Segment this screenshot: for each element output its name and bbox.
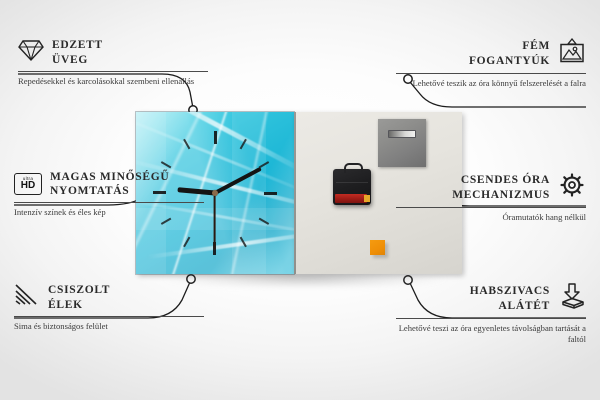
feature-title-line1: HABSZIVACS	[470, 285, 550, 297]
feature-title-line2: ALÁTÉT	[499, 300, 551, 312]
feature-title-line1: CSENDES ÓRA	[461, 174, 550, 186]
divider	[14, 316, 204, 317]
feature-metal-handles: FÉM FOGANTYÚK Lehetővé teszik az óra kön…	[396, 38, 586, 89]
feature-polished-edges: CSISZOLT ÉLEK Sima és biztonságos felüle…	[14, 283, 204, 332]
foam-pad	[370, 240, 385, 255]
divider	[396, 207, 586, 208]
foam-pad-arrow-icon	[558, 283, 586, 314]
feature-high-quality-print: ultra HD MAGAS MINŐSÉGŰ NYOMTATÁS Intenz…	[14, 170, 204, 218]
gear-icon	[558, 172, 586, 203]
feature-description: Óramutatók hang nélkül	[396, 212, 586, 223]
clock-center-cap	[212, 190, 218, 196]
ultra-hd-big-label: HD	[21, 181, 35, 191]
hanger-slot	[388, 130, 416, 138]
feature-title-line2: ÜVEG	[52, 54, 88, 66]
feature-description: Lehetővé teszik az óra könnyű felszerelé…	[396, 78, 586, 89]
feature-description: Repedésekkel és karcolásokkal szembeni e…	[18, 76, 208, 87]
feature-title-line2: NYOMTATÁS	[50, 185, 129, 197]
feature-tempered-glass: EDZETT ÜVEG Repedésekkel és karcolásokka…	[18, 38, 208, 87]
ultra-hd-icon: ultra HD	[14, 173, 42, 195]
infographic-canvas: EDZETT ÜVEG Repedésekkel és karcolásokka…	[0, 0, 600, 400]
feature-description: Lehetővé teszi az óra egyenletes távolsá…	[396, 323, 586, 345]
mechanism-seam	[336, 182, 368, 183]
divider	[14, 202, 204, 203]
mechanism-handle	[344, 163, 363, 173]
divider	[396, 73, 586, 74]
divider	[396, 318, 586, 319]
diamond-icon	[18, 38, 44, 67]
feature-foam-backing: HABSZIVACS ALÁTÉT Lehetővé teszi az óra …	[396, 283, 586, 345]
feature-title-line1: FÉM	[522, 40, 550, 52]
battery-terminal	[364, 195, 370, 202]
clock-tick	[214, 131, 216, 193]
feature-title-line1: EDZETT	[52, 39, 103, 51]
metal-hanger-plate	[378, 119, 426, 167]
polished-edge-icon	[14, 283, 40, 312]
divider	[18, 71, 208, 72]
clock-mechanism	[333, 169, 371, 205]
feature-description: Sima és biztonságos felület	[14, 321, 204, 332]
feature-title-line2: ÉLEK	[48, 299, 83, 311]
feature-silent-mechanism: CSENDES ÓRA MECHANIZMUS Óramutatók hang …	[396, 172, 586, 223]
feature-title-line2: MECHANIZMUS	[452, 189, 550, 201]
clock-second-hand	[214, 193, 216, 249]
battery	[335, 194, 367, 203]
picture-hanger-icon	[558, 38, 586, 69]
feature-description: Intenzív színek és éles kép	[14, 207, 204, 218]
feature-title-line1: MAGAS MINŐSÉGŰ	[50, 171, 169, 183]
clock-tick	[215, 192, 277, 194]
feature-title-line1: CSISZOLT	[48, 284, 110, 296]
feature-title-line2: FOGANTYÚK	[469, 55, 550, 67]
